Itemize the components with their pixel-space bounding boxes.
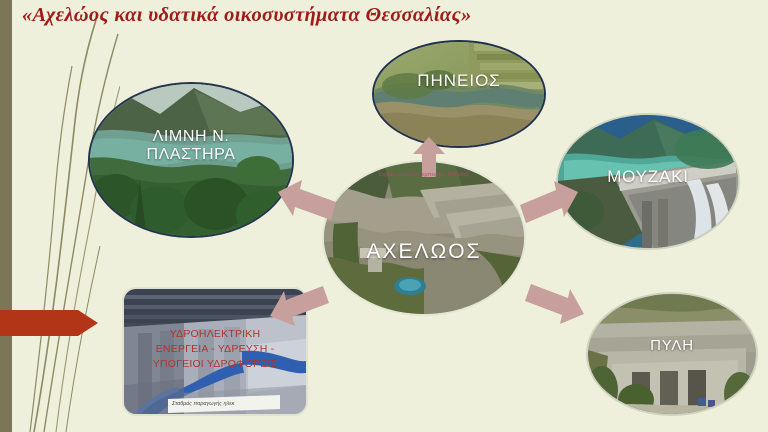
node-label-hydro-line2: ΕΝΕΡΓΕΙΑ - ΥΔΡΕΥΣΗ -	[124, 342, 306, 357]
node-label-plastira-line1: ΛΙΜΝΗ Ν.	[90, 128, 292, 146]
pineios-photo	[374, 42, 544, 146]
arrow-center-to-pineios	[412, 137, 446, 177]
page-title: «Αχελώος και υδατικά οικοσυστήματα Θεσσα…	[22, 4, 642, 27]
node-pineios[interactable]: ΠΗΝΕΙΟΣ	[372, 40, 546, 148]
red-banner-arrow-icon	[0, 306, 100, 340]
arrow-center-to-pyli	[522, 276, 586, 326]
node-label-mouzaki: ΜΟΥΖΑΚΙ	[558, 167, 738, 186]
node-pyli[interactable]: ΠΥΛΗ	[586, 292, 758, 416]
acheloos-photo	[324, 162, 524, 314]
node-label-hydro-line1: ΥΔΡΟΗΛΕΚΤΡΙΚΗ	[124, 327, 306, 342]
arrow-center-to-plastira	[276, 178, 338, 226]
node-label-pineios: ΠΗΝΕΙΟΣ	[374, 71, 544, 90]
grass-decoration-icon	[0, 0, 120, 432]
node-limni-plastira[interactable]: ΛΙΜΝΗ Ν. ΠΛΑΣΤΗΡΑ	[88, 82, 294, 238]
slide-canvas: «Αχελώος και υδατικά οικοσυστήματα Θεσσα…	[0, 0, 768, 432]
node-label-plastira: ΛΙΜΝΗ Ν. ΠΛΑΣΤΗΡΑ	[90, 128, 292, 164]
node-label-plastira-line2: ΠΛΑΣΤΗΡΑ	[90, 146, 292, 164]
center-micro-text: πορεία εργασιών εμπειρίας διάθεσης	[324, 172, 524, 178]
node-label-acheloos: ΑΧΕΛΩΟΣ	[324, 240, 524, 264]
arrow-center-to-mouzaki	[518, 180, 580, 230]
node-acheloos-center[interactable]: πορεία εργασιών εμπειρίας διάθεσης ΑΧΕΛΩ…	[322, 160, 526, 316]
node-label-hydro: ΥΔΡΟΗΛΕΚΤΡΙΚΗ ΕΝΕΡΓΕΙΑ - ΥΔΡΕΥΣΗ - ΥΠΟΓΕ…	[124, 327, 306, 373]
left-accent-bar	[0, 0, 12, 432]
node-label-pyli: ΠΥΛΗ	[588, 338, 756, 355]
node-mouzaki[interactable]: ΜΟΥΖΑΚΙ	[556, 113, 740, 250]
arrow-center-to-hydro	[268, 280, 332, 328]
hydro-caption: Σταθμός παραγωγής ηλεκ	[172, 401, 234, 407]
node-label-hydro-line3: ΥΠΟΓΕΙΟΙ ΥΔΡΟΦΟΡΕΙΣ	[124, 357, 306, 372]
